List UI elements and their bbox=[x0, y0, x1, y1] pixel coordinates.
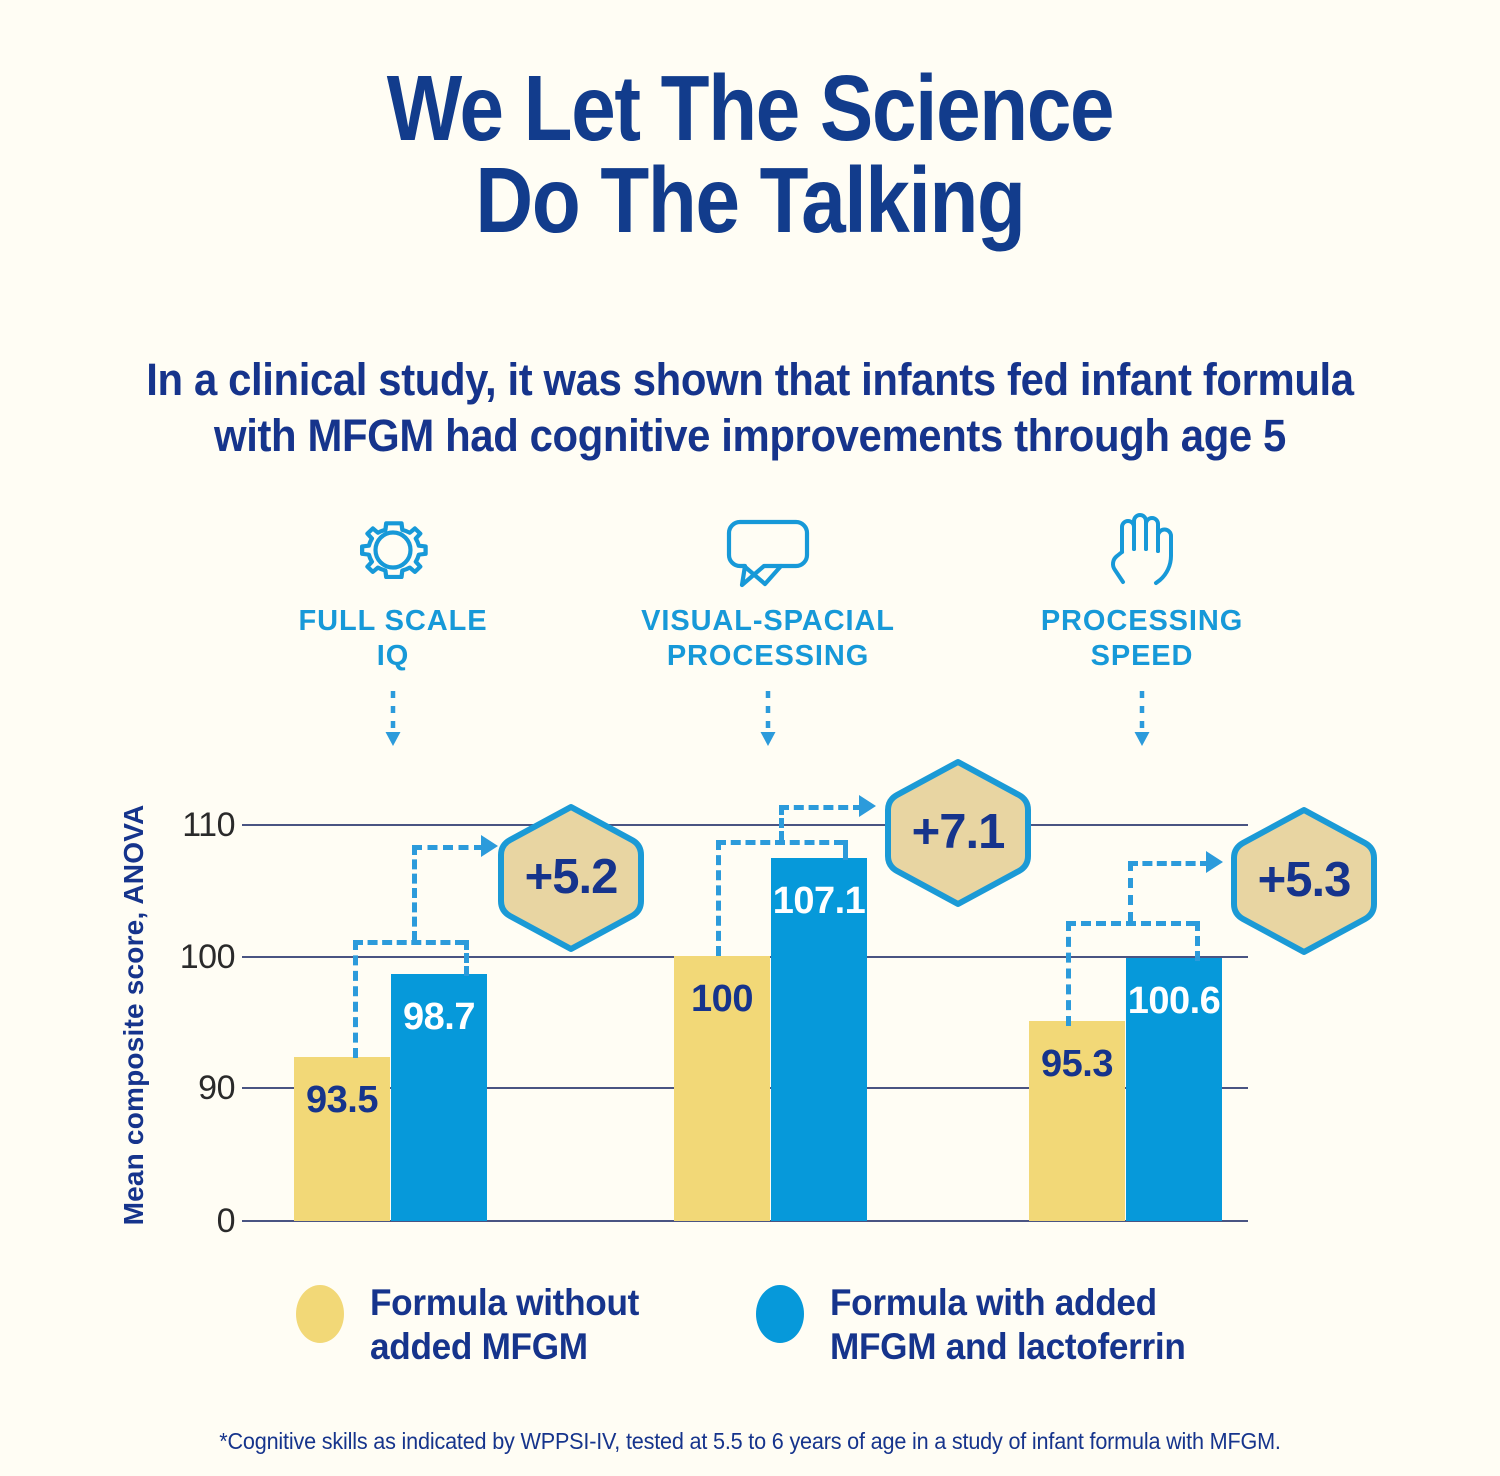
category-header-full-scale-iq: FULL SCALE IQ bbox=[253, 512, 533, 749]
callout-badge-processing-speed: +5.3 bbox=[1228, 805, 1380, 957]
connector-arrowhead bbox=[859, 795, 876, 817]
connector-callout-arm bbox=[1128, 861, 1210, 866]
callout-badge-full-scale-iq: +5.2 bbox=[495, 802, 647, 954]
connector-bracket-top bbox=[353, 940, 465, 945]
legend-swatch-blue bbox=[756, 1285, 804, 1343]
legend-label: Formula with added MFGM and lactoferrin bbox=[830, 1281, 1186, 1368]
connector-riser-left bbox=[716, 840, 721, 956]
hand-icon bbox=[1002, 512, 1282, 590]
down-arrow-icon bbox=[628, 689, 908, 749]
gridline-110 bbox=[258, 824, 1248, 826]
connector-arrowhead bbox=[1206, 851, 1223, 873]
legend-item-with-mfgm[interactable]: Formula with added MFGM and lactoferrin bbox=[756, 1281, 1204, 1368]
bar-value-label: 98.7 bbox=[391, 996, 487, 1039]
y-tick-label-110: 110 bbox=[170, 806, 235, 845]
bar-processing-speed-with-mfgm[interactable]: 100.6 bbox=[1126, 958, 1222, 1221]
callout-badge-value: +5.2 bbox=[495, 849, 647, 905]
y-tick-label-0: 0 bbox=[170, 1202, 235, 1241]
connector-callout-riser bbox=[1128, 861, 1133, 922]
category-header-visual-spacial-processing: VISUAL-SPACIAL PROCESSING bbox=[628, 512, 908, 749]
connector-riser-left bbox=[1066, 921, 1071, 1026]
bar-full-scale-iq-with-mfgm[interactable]: 98.7 bbox=[391, 974, 487, 1221]
category-label: PROCESSING SPEED bbox=[1002, 604, 1282, 675]
y-tick-label-100: 100 bbox=[170, 938, 235, 977]
bar-visual-spacial-with-mfgm[interactable]: 107.1 bbox=[771, 858, 867, 1221]
bar-value-label: 100 bbox=[674, 978, 770, 1021]
page-subtitle: In a clinical study, it was shown that i… bbox=[53, 352, 1448, 465]
speech-bubble-icon bbox=[628, 512, 908, 590]
bar-value-label: 95.3 bbox=[1029, 1043, 1125, 1086]
connector-riser-right bbox=[843, 840, 848, 860]
callout-badge-value: +5.3 bbox=[1228, 852, 1380, 908]
legend-item-without-mfgm[interactable]: Formula without added MFGM bbox=[296, 1281, 653, 1368]
bar-value-label: 100.6 bbox=[1126, 980, 1222, 1023]
connector-riser-right bbox=[1195, 921, 1200, 961]
callout-badge-value: +7.1 bbox=[882, 804, 1034, 860]
bar-processing-speed-without-mfgm[interactable]: 95.3 bbox=[1029, 1021, 1125, 1221]
y-tick-mark-100 bbox=[242, 956, 260, 958]
connector-callout-arm bbox=[779, 805, 863, 810]
legend-label: Formula without added MFGM bbox=[370, 1281, 639, 1368]
connector-callout-riser bbox=[779, 805, 784, 841]
legend-swatch-yellow bbox=[296, 1285, 344, 1343]
down-arrow-icon bbox=[1002, 689, 1282, 749]
bar-value-label: 107.1 bbox=[771, 880, 867, 923]
callout-badge-visual-spacial: +7.1 bbox=[882, 757, 1034, 909]
category-label: FULL SCALE IQ bbox=[253, 604, 533, 675]
bar-full-scale-iq-without-mfgm[interactable]: 93.5 bbox=[294, 1057, 390, 1221]
footnote: *Cognitive skills as indicated by WPPSI-… bbox=[45, 1428, 1455, 1455]
y-tick-mark-0 bbox=[242, 1220, 260, 1222]
page-title: We Let The Science Do The Talking bbox=[105, 62, 1395, 246]
gear-icon bbox=[253, 512, 533, 590]
y-axis-title: Mean composite score, ANOVA bbox=[118, 795, 152, 1235]
connector-riser-right bbox=[464, 940, 469, 976]
bar-visual-spacial-without-mfgm[interactable]: 100 bbox=[674, 956, 770, 1221]
connector-callout-riser bbox=[412, 845, 417, 941]
y-tick-mark-110 bbox=[242, 824, 260, 826]
y-tick-label-90: 90 bbox=[170, 1069, 235, 1108]
y-tick-mark-90 bbox=[242, 1087, 260, 1089]
connector-riser-left bbox=[353, 940, 358, 1058]
down-arrow-icon bbox=[253, 689, 533, 749]
category-header-processing-speed: PROCESSING SPEED bbox=[1002, 512, 1282, 749]
bar-value-label: 93.5 bbox=[294, 1079, 390, 1122]
connector-callout-arm bbox=[412, 845, 484, 850]
category-label: VISUAL-SPACIAL PROCESSING bbox=[628, 604, 908, 675]
